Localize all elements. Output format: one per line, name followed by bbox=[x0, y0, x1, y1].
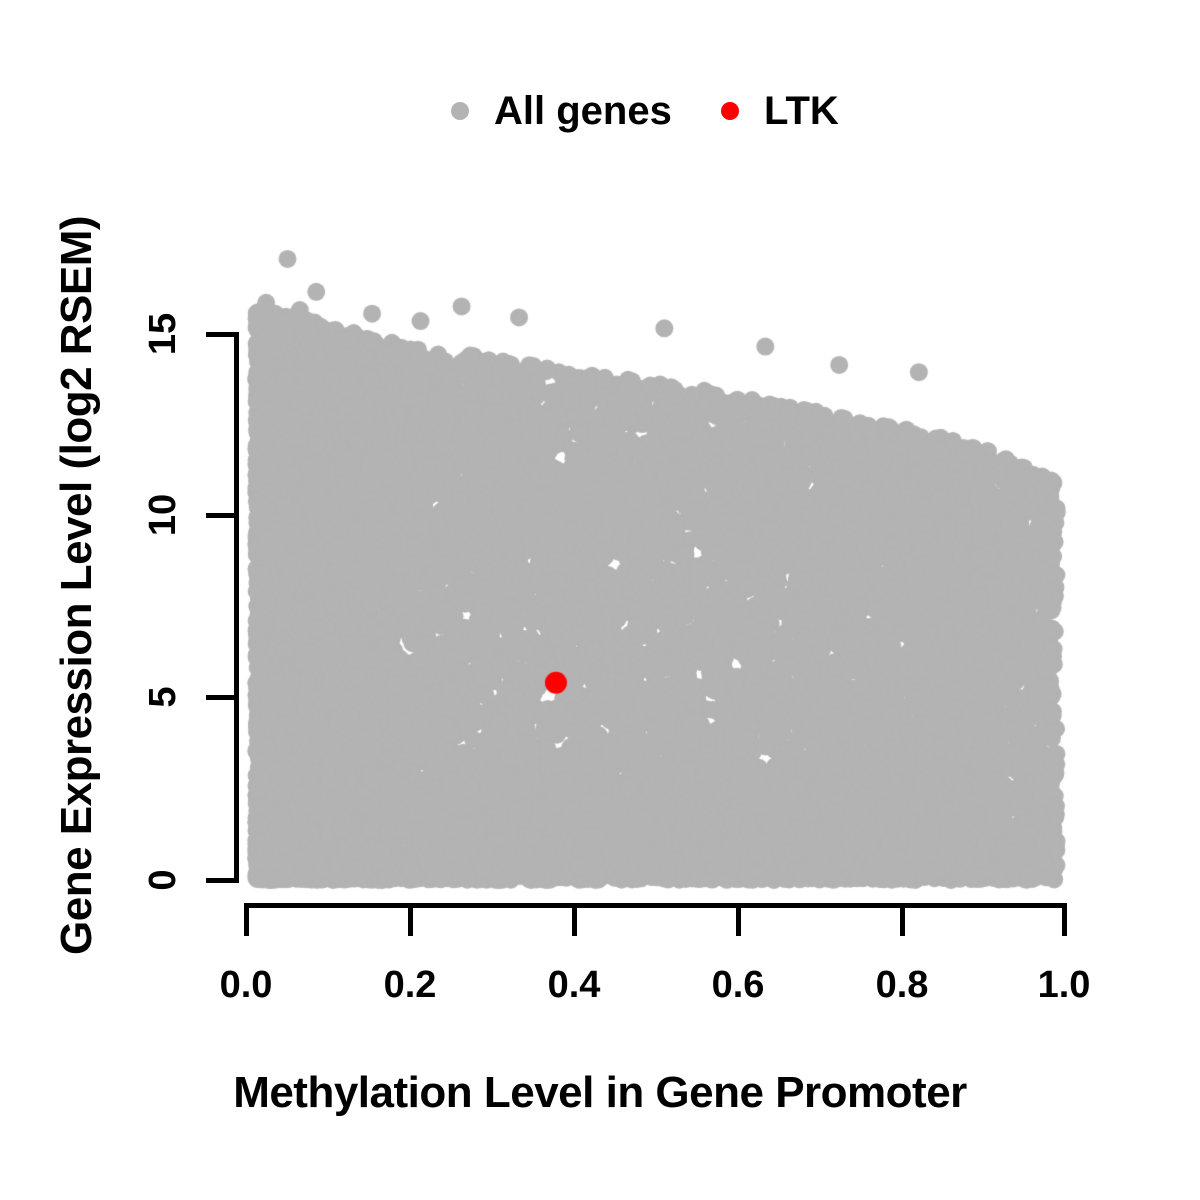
y-axis-title: Gene Expression Level (log2 RSEM) bbox=[52, 216, 102, 955]
x-axis-line bbox=[244, 903, 1067, 908]
y-tick-label-5: 5 bbox=[144, 667, 182, 727]
y-tick-label-0: 0 bbox=[144, 850, 182, 910]
x-tick-0.8 bbox=[900, 903, 905, 936]
y-tick-15 bbox=[206, 332, 239, 337]
x-tick-label-0.4: 0.4 bbox=[524, 966, 624, 1004]
x-tick-label-0.8: 0.8 bbox=[852, 966, 952, 1004]
scatter-points-layer bbox=[0, 0, 1200, 1200]
x-tick-1.0 bbox=[1062, 903, 1067, 936]
x-tick-label-0.6: 0.6 bbox=[688, 966, 788, 1004]
x-tick-label-1.0: 1.0 bbox=[1014, 966, 1114, 1004]
x-tick-0.2 bbox=[408, 903, 413, 936]
x-tick-0.0 bbox=[244, 903, 249, 936]
y-axis-line bbox=[234, 332, 239, 883]
x-tick-label-0.2: 0.2 bbox=[360, 966, 460, 1004]
x-tick-0.4 bbox=[572, 903, 577, 936]
y-tick-5 bbox=[206, 695, 239, 700]
y-tick-label-15: 15 bbox=[144, 304, 182, 364]
figure-canvas: All genes LTK 0 5 10 15 0.0 0.2 0.4 0.6 … bbox=[0, 0, 1200, 1200]
x-tick-0.6 bbox=[736, 903, 741, 936]
y-tick-10 bbox=[206, 513, 239, 518]
x-axis-title: Methylation Level in Gene Promoter bbox=[0, 1068, 1200, 1118]
y-tick-0 bbox=[206, 878, 239, 883]
x-tick-label-0.0: 0.0 bbox=[196, 966, 296, 1004]
y-tick-label-10: 10 bbox=[144, 485, 182, 545]
